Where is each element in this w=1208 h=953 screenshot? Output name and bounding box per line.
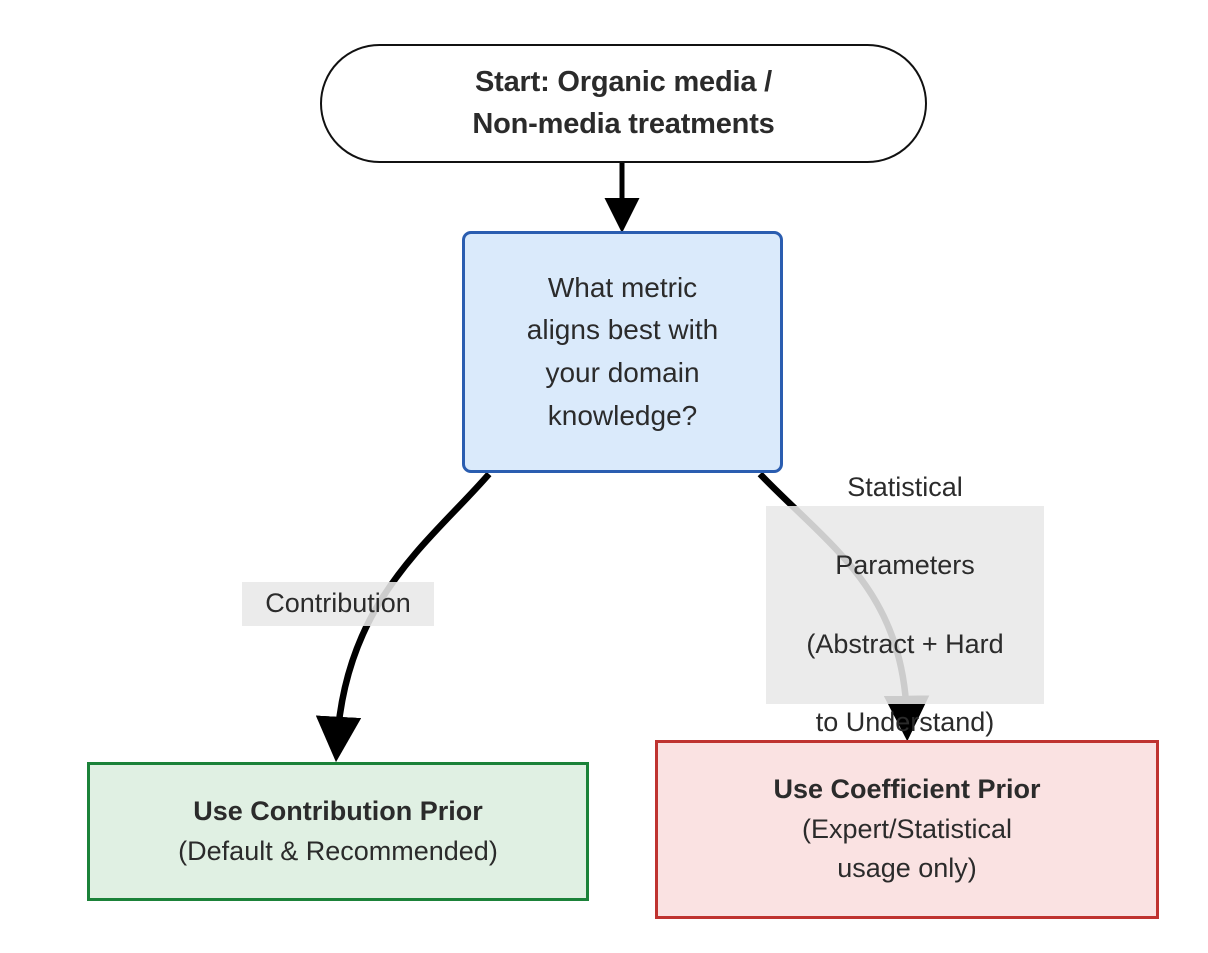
edge-label-contribution-text: Contribution: [265, 584, 411, 623]
green-outcome-node[interactable]: Use Contribution Prior (Default & Recomm…: [87, 762, 589, 901]
edge-label-statistical-line-3: (Abstract + Hard: [806, 625, 1003, 664]
decision-node-line-4: knowledge?: [548, 395, 697, 438]
decision-node-line-1: What metric: [548, 267, 697, 310]
decision-node-line-2: aligns best with: [527, 309, 718, 352]
decision-node[interactable]: What metric aligns best with your domain…: [462, 231, 783, 473]
decision-node-line-3: your domain: [545, 352, 699, 395]
start-node-line-1: Start: Organic media /: [475, 62, 772, 103]
edge-label-statistical-line-4: to Understand): [806, 703, 1003, 742]
red-outcome-line-3: usage only): [837, 849, 977, 888]
edge-label-statistical-line-1: Statistical: [806, 468, 1003, 507]
edge-label-statistical-line-2: Parameters: [806, 546, 1003, 585]
start-node[interactable]: Start: Organic media / Non-media treatme…: [320, 44, 927, 163]
start-node-line-2: Non-media treatments: [472, 104, 774, 145]
green-outcome-line-1: Use Contribution Prior: [193, 792, 483, 831]
edge-label-statistical-parameters: Statistical Parameters (Abstract + Hard …: [766, 506, 1044, 704]
edge-label-contribution: Contribution: [242, 582, 434, 626]
green-outcome-line-2: (Default & Recommended): [178, 832, 498, 871]
red-outcome-line-2: (Expert/Statistical: [802, 810, 1012, 849]
